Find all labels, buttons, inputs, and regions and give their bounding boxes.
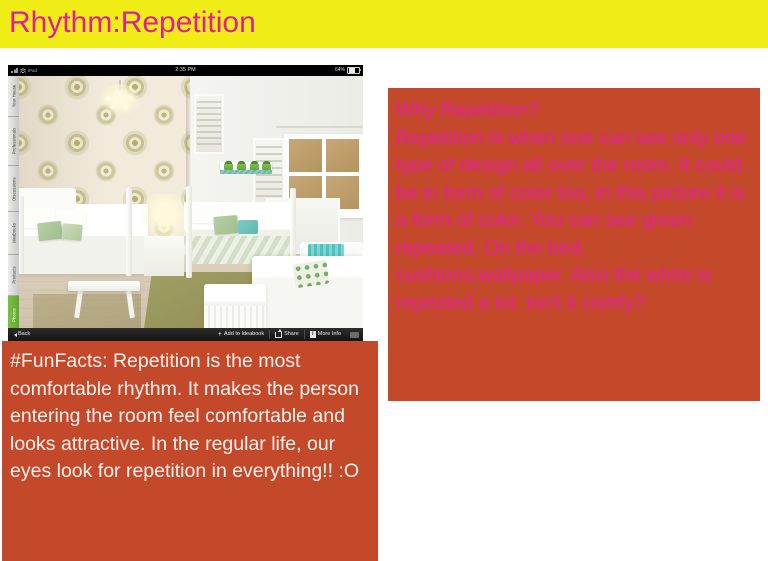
tab-discussions[interactable]: Discussions (8, 166, 19, 212)
room-photo (8, 76, 363, 328)
curtain-rod (276, 126, 363, 128)
tab-label: Photos (11, 308, 16, 322)
page-title: Rhythm:Repetition (9, 3, 256, 43)
status-clock: 2:35 PM (8, 65, 363, 76)
fun-facts-textbox: #FunFacts: Repetition is the most comfor… (2, 341, 378, 561)
more-info-button[interactable]: i More Info (305, 328, 346, 341)
tab-professionals[interactable]: Professionals (8, 117, 19, 166)
floor-rug-secondary (33, 294, 141, 328)
potted-plant (224, 161, 233, 170)
back-button[interactable]: Back (14, 328, 30, 341)
fullscreen-button[interactable] (350, 332, 359, 338)
table-lamp-glow (142, 194, 188, 240)
fun-facts-text: #FunFacts: Repetition is the most comfor… (10, 348, 372, 486)
add-to-ideabook-label: Add to Ideabook (224, 328, 264, 341)
ottoman-skirt (204, 306, 266, 328)
potted-plant (250, 161, 259, 170)
tab-label: Products (11, 266, 16, 283)
potted-plant (262, 161, 271, 170)
chandelier (100, 80, 140, 120)
battery-percent-label: 64% (335, 65, 345, 76)
plant-shelf (220, 162, 272, 170)
info-icon: i (310, 331, 316, 338)
ipad-screenshot-image: iPad 2:35 PM 64% (8, 65, 363, 341)
tab-your-house[interactable]: Your House (8, 76, 19, 117)
nightstand (144, 236, 184, 276)
status-bar-right: 64% (335, 65, 360, 76)
tab-label: Your House (11, 85, 16, 108)
toolbar-actions: + Add to Ideabook Share i More Info (213, 328, 359, 341)
patterned-cushion (292, 260, 329, 288)
app-tab-rail: Your House Professionals Discussions Ide… (8, 76, 19, 328)
tab-products[interactable]: Products (8, 255, 19, 296)
tab-label: Discussions (11, 177, 16, 200)
chevron-left-icon (14, 333, 17, 337)
potted-plant (237, 161, 246, 170)
bench (68, 281, 140, 291)
battery-icon (347, 67, 360, 75)
ios-status-bar: iPad 2:35 PM 64% (8, 65, 363, 76)
plus-icon: + (218, 331, 222, 338)
tab-ideabooks[interactable]: Ideabooks (8, 212, 19, 255)
bed-right (184, 202, 296, 264)
slide-title-bar: Rhythm:Repetition (0, 0, 768, 48)
tab-label: Ideabooks (11, 223, 16, 243)
why-repetition-text: Why Repetition? Repetition is when one c… (396, 97, 754, 317)
share-label: Share (284, 328, 299, 341)
add-to-ideabook-button[interactable]: + Add to Ideabook (213, 328, 269, 341)
app-bottom-toolbar: Back + Add to Ideabook Share i More Info (8, 328, 363, 341)
shelf-trim (220, 170, 272, 174)
more-info-label: More Info (318, 328, 341, 341)
share-button[interactable]: Share (270, 328, 304, 341)
bed-post (126, 188, 132, 276)
share-icon (275, 332, 282, 338)
why-repetition-textbox: Why Repetition? Repetition is when one c… (388, 88, 760, 401)
small-window-shutter (194, 94, 224, 154)
tab-label: Professionals (11, 128, 16, 154)
back-button-label: Back (18, 328, 30, 341)
